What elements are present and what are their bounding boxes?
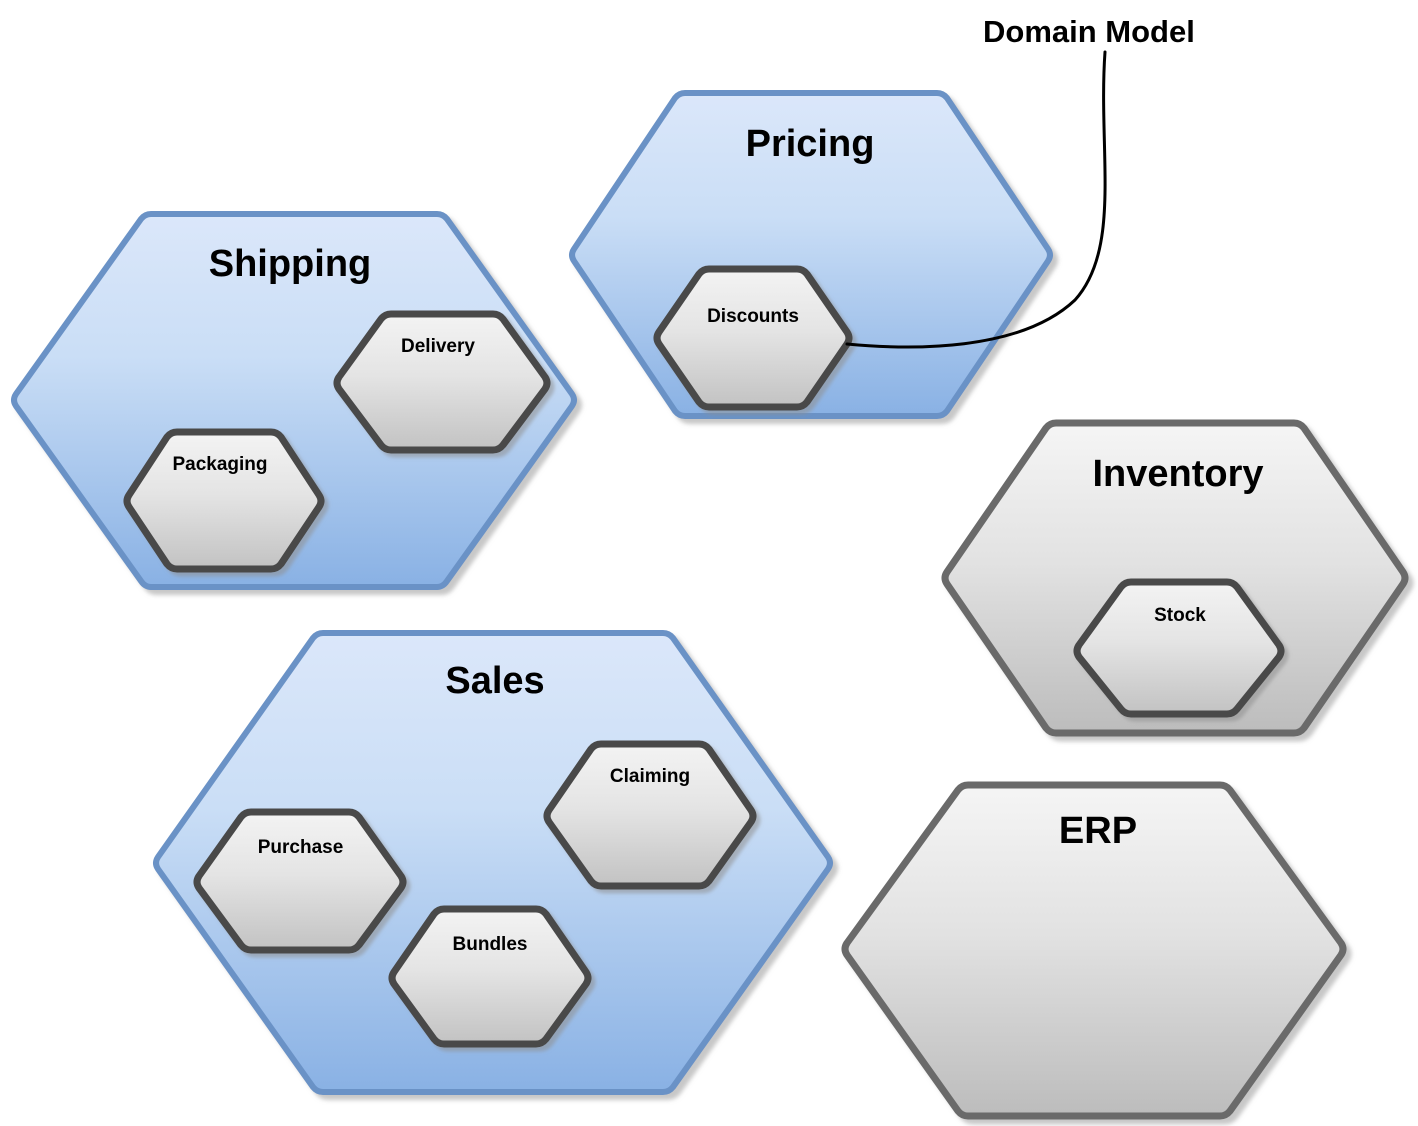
subdomain-discounts[interactable] bbox=[657, 269, 849, 407]
subdomain-claiming[interactable] bbox=[547, 744, 753, 886]
context-sales[interactable] bbox=[156, 633, 830, 1092]
subdomain-stock[interactable] bbox=[1077, 582, 1281, 714]
erp-hexagon-shape bbox=[845, 785, 1343, 1116]
bundles-hexagon-shape bbox=[392, 909, 588, 1044]
discounts-hexagon-shape bbox=[657, 269, 849, 407]
domain-model-annotation-label: Domain Model bbox=[983, 16, 1195, 47]
context-erp[interactable] bbox=[845, 785, 1343, 1116]
context-pricing[interactable] bbox=[572, 93, 1050, 416]
subdomain-bundles[interactable] bbox=[392, 909, 588, 1044]
subdomain-delivery[interactable] bbox=[337, 314, 547, 450]
subdomain-packaging[interactable] bbox=[127, 432, 321, 569]
stock-hexagon-shape bbox=[1077, 582, 1281, 714]
subdomain-purchase[interactable] bbox=[197, 812, 403, 950]
delivery-hexagon-shape bbox=[337, 314, 547, 450]
context-shipping[interactable] bbox=[14, 214, 574, 587]
diagram-canvas: Shipping Delivery Packaging Pricing Disc… bbox=[0, 0, 1418, 1126]
hexagon-diagram-svg bbox=[0, 0, 1418, 1126]
claiming-hexagon-shape bbox=[547, 744, 753, 886]
packaging-hexagon-shape bbox=[127, 432, 321, 569]
context-inventory[interactable] bbox=[945, 423, 1405, 733]
purchase-hexagon-shape bbox=[197, 812, 403, 950]
